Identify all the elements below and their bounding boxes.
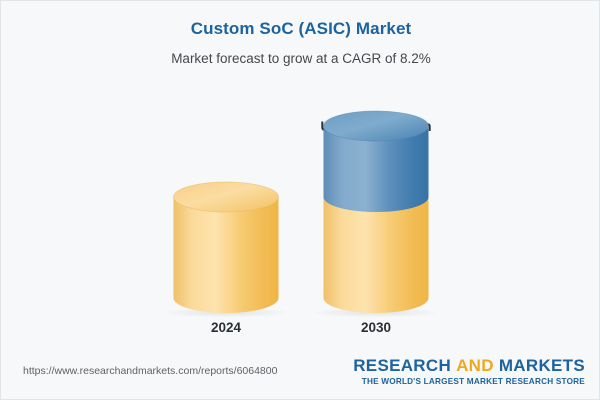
cylinder-bar-2024: [174, 182, 279, 313]
category-label-2024: 2024: [211, 320, 241, 335]
chart-plot-area: USD 27 Billion: [1, 81, 600, 341]
brand-word-markets: MARKETS: [499, 356, 585, 375]
source-url-link[interactable]: https://www.researchandmarkets.com/repor…: [23, 365, 277, 377]
bar-group-2024: USD 27 Billion: [156, 81, 296, 341]
infographic-card: Custom SoC (ASIC) Market Market forecast…: [0, 0, 600, 400]
brand-name: RESEARCH AND MARKETS: [353, 357, 585, 375]
bar-group-2030: USD 43.39 Billion: [306, 81, 446, 341]
brand-word-and: AND: [456, 356, 494, 375]
chart-subtitle: Market forecast to grow at a CAGR of 8.2…: [1, 51, 600, 66]
brand-tagline: THE WORLD'S LARGEST MARKET RESEARCH STOR…: [353, 377, 585, 386]
brand-word-research: RESEARCH: [353, 356, 451, 375]
page-title: Custom SoC (ASIC) Market: [1, 19, 600, 39]
category-label-2030: 2030: [361, 320, 391, 335]
brand-logo: RESEARCH AND MARKETS THE WORLD'S LARGEST…: [353, 357, 585, 386]
footer: https://www.researchandmarkets.com/repor…: [1, 351, 600, 399]
cylinder-bar-2030: [324, 111, 429, 313]
